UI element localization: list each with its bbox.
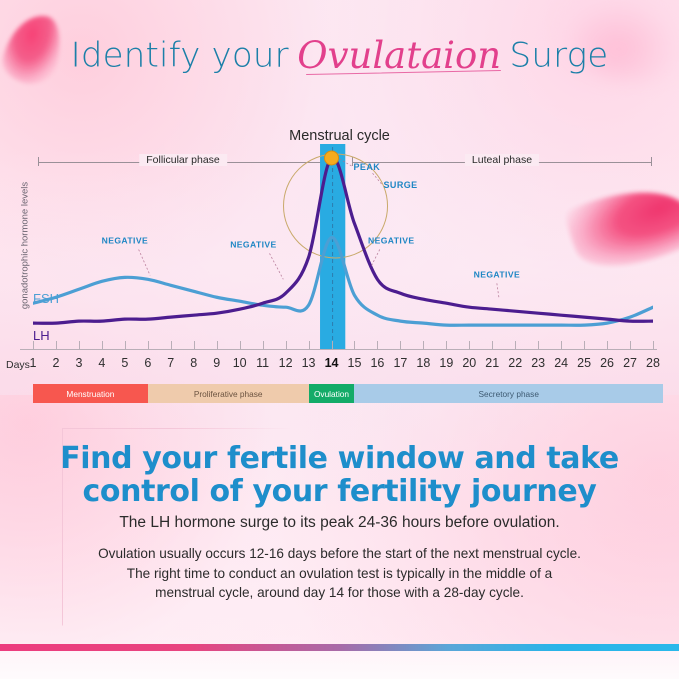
x-axis-tick (630, 341, 631, 349)
phase-segment-proliferative-phase: Proliferative phase (148, 384, 309, 403)
x-axis-label: 22 (508, 356, 522, 370)
x-axis-label: 3 (75, 356, 82, 370)
x-axis-label: 9 (213, 356, 220, 370)
page-title: Identify your Ovulataion Surge (0, 34, 679, 77)
x-axis-tick (377, 341, 378, 349)
x-axis-label: 13 (302, 356, 316, 370)
promo-headline-line-1: Find your fertile window and take (0, 442, 679, 475)
x-axis-tick (332, 341, 333, 349)
x-axis-label: 19 (439, 356, 453, 370)
x-axis-label-highlight: 14 (325, 356, 339, 370)
x-axis-tick (607, 341, 608, 349)
x-axis-tick (125, 341, 126, 349)
promo-headline: Find your fertile window and take contro… (0, 442, 679, 508)
annotation-peak: PEAK (354, 162, 381, 172)
x-axis-label: 15 (348, 356, 362, 370)
x-axis-tick (538, 341, 539, 349)
x-axis-tick (309, 341, 310, 349)
annotation-negative-1: NEGATIVE (102, 236, 149, 246)
x-axis-tick (56, 341, 57, 349)
series-label-lh: LH (33, 328, 50, 343)
x-axis-label: 5 (121, 356, 128, 370)
x-axis-tick (354, 341, 355, 349)
x-axis-tick (148, 341, 149, 349)
x-axis-label: 8 (190, 356, 197, 370)
promo-body-line-3: menstrual cycle, around day 14 for those… (0, 583, 679, 603)
x-axis-tick (102, 341, 103, 349)
promo-headline-line-2: control of your fertility journey (0, 475, 679, 508)
promo-body-line-2: The right time to conduct an ovulation t… (0, 564, 679, 584)
x-axis-tick (653, 341, 654, 349)
x-axis-tick (263, 341, 264, 349)
plot-area: PEAK SURGE NEGATIVE NEGATIVE NEGATIVE NE… (33, 144, 653, 349)
x-axis-label: 26 (600, 356, 614, 370)
promo-body-line-1: Ovulation usually occurs 12-16 days befo… (0, 544, 679, 564)
title-part-2: Surge (510, 36, 609, 76)
annotation-negative-4: NEGATIVE (474, 269, 520, 279)
promo-body-text: Ovulation usually occurs 12-16 days befo… (0, 544, 679, 603)
phase-segment-menstruation: Menstruation (33, 384, 148, 403)
x-axis-line (20, 349, 657, 350)
x-axis-label: 11 (256, 356, 269, 370)
x-axis-tick (79, 341, 80, 349)
x-axis-label: 25 (577, 356, 591, 370)
x-axis-tick (171, 341, 172, 349)
annotation-negative-3: NEGATIVE (368, 236, 415, 246)
x-axis-label: 2 (52, 356, 59, 370)
x-axis-label: 12 (279, 356, 293, 370)
x-axis-tick (584, 341, 585, 349)
x-axis-label: 17 (393, 356, 407, 370)
x-axis-label: 16 (370, 356, 384, 370)
bottom-gradient-strip (0, 644, 679, 651)
peak-dot (325, 151, 339, 165)
x-axis-tick (515, 341, 516, 349)
annotation-surge: SURGE (384, 180, 418, 190)
x-axis-label: 21 (485, 356, 499, 370)
x-axis-tick (561, 341, 562, 349)
x-axis-tick (194, 341, 195, 349)
phase-segment-secretory-phase: Secretory phase (354, 384, 663, 403)
menstrual-cycle-chart: Menstrual cycle Follicular phase Luteal … (0, 128, 679, 410)
x-axis-label: 6 (144, 356, 151, 370)
x-axis-tick (286, 341, 287, 349)
x-axis-label: 20 (462, 356, 476, 370)
x-axis-label: 18 (416, 356, 430, 370)
x-axis-label: 10 (233, 356, 247, 370)
promo-lead-text: The LH hormone surge to its peak 24-36 h… (0, 514, 679, 532)
cycle-phase-bar: MenstruationProliferative phaseOvulation… (22, 384, 656, 403)
x-axis-label: 28 (646, 356, 660, 370)
x-axis-label: 23 (531, 356, 545, 370)
x-axis-tick (469, 341, 470, 349)
x-axis-label: 4 (98, 356, 105, 370)
series-label-fsh: FSH (33, 291, 59, 306)
x-axis-tick (400, 341, 401, 349)
phase-segment-ovulation: Ovulation (309, 384, 355, 403)
x-axis-tick (492, 341, 493, 349)
chart-title: Menstrual cycle (0, 128, 679, 144)
annotation-negative-2: NEGATIVE (230, 240, 277, 250)
x-axis-tick (240, 341, 241, 349)
x-axis-tick (423, 341, 424, 349)
y-axis-label: gonadotrophic hormone levels (20, 151, 31, 341)
x-axis-title: Days (6, 359, 30, 371)
bottom-fade (0, 651, 679, 679)
x-axis-tick (217, 341, 218, 349)
x-axis-label: 24 (554, 356, 568, 370)
x-axis-label: 27 (623, 356, 637, 370)
title-script-word: Ovulataion (293, 34, 505, 77)
x-axis-label: 7 (167, 356, 174, 370)
x-axis-label: 1 (30, 356, 37, 370)
x-axis-tick (446, 341, 447, 349)
title-part-1: Identify your (71, 36, 289, 76)
x-axis-tick (33, 341, 34, 349)
